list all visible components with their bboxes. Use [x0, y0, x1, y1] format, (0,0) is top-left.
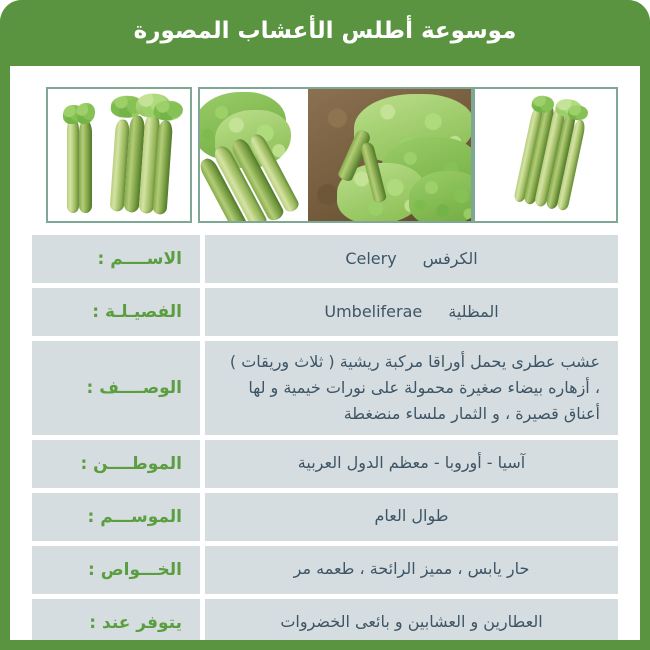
- table-cell-value: المظليةUmbeliferae: [205, 288, 618, 336]
- two-celery-bunches-icon: [48, 89, 190, 221]
- table-row: حار يابس ، مميز الرائحة ، طعمه مر الخـــ…: [32, 546, 618, 594]
- table-cell-value: العطارين و العشابين و بائعى الخضروات: [205, 599, 618, 640]
- table-cell-label: الاســــم :: [32, 235, 200, 283]
- gallery-photo-celery-stalk[interactable]: [473, 87, 618, 223]
- value-text-arabic: المظلية: [448, 300, 498, 325]
- table-cell-value: حار يابس ، مميز الرائحة ، طعمه مر: [205, 546, 618, 594]
- gallery-photo-celery-bunch-leaves[interactable]: [198, 87, 308, 223]
- table-cell-label: الوصــــف :: [32, 341, 200, 435]
- table-cell-value: الكرفسCelery: [205, 235, 618, 283]
- table-cell-label: يتوفر عند :: [32, 599, 200, 640]
- table-cell-label: الموســـم :: [32, 493, 200, 541]
- celery-stalk-icon: [475, 89, 616, 221]
- table-cell-value: طوال العام: [205, 493, 618, 541]
- table-cell-value: آسيا - أوروبا - معظم الدول العربية: [205, 440, 618, 488]
- gallery-photo-two-celery-bunches[interactable]: [46, 87, 192, 223]
- table-row: عشب عطرى يحمل أوراقا مركبة ريشية ( ثلاث …: [32, 341, 618, 435]
- gallery-photo-celery-in-soil[interactable]: [308, 87, 473, 223]
- table-cell-label: الموطــــن :: [32, 440, 200, 488]
- table-row: طوال العام الموســـم :: [32, 493, 618, 541]
- table-row: المظليةUmbeliferae الفصيـلـة :: [32, 288, 618, 336]
- table-row: آسيا - أوروبا - معظم الدول العربية الموط…: [32, 440, 618, 488]
- celery-bunch-leaves-icon: [200, 89, 308, 221]
- photo-gallery: [10, 66, 640, 223]
- value-text-arabic: الكرفس: [423, 247, 478, 272]
- value-text-latin: Celery: [345, 247, 396, 272]
- table-cell-label: الفصيـلـة :: [32, 288, 200, 336]
- value-text-latin: Umbeliferae: [324, 300, 422, 325]
- herb-atlas-page: موسوعة أطلس الأعشاب المصورة: [0, 0, 650, 650]
- content-sheet: الكرفسCelery الاســــم : المظليةUmbelife…: [10, 66, 640, 640]
- page-header: موسوعة أطلس الأعشاب المصورة: [0, 0, 650, 66]
- herb-info-table: الكرفسCelery الاســــم : المظليةUmbelife…: [10, 223, 640, 640]
- table-row: الكرفسCelery الاســــم :: [32, 235, 618, 283]
- table-cell-value: عشب عطرى يحمل أوراقا مركبة ريشية ( ثلاث …: [205, 341, 618, 435]
- table-row: العطارين و العشابين و بائعى الخضروات يتو…: [32, 599, 618, 640]
- page-title: موسوعة أطلس الأعشاب المصورة: [134, 20, 517, 47]
- celery-plant-soil-icon: [308, 89, 471, 221]
- table-cell-label: الخـــواص :: [32, 546, 200, 594]
